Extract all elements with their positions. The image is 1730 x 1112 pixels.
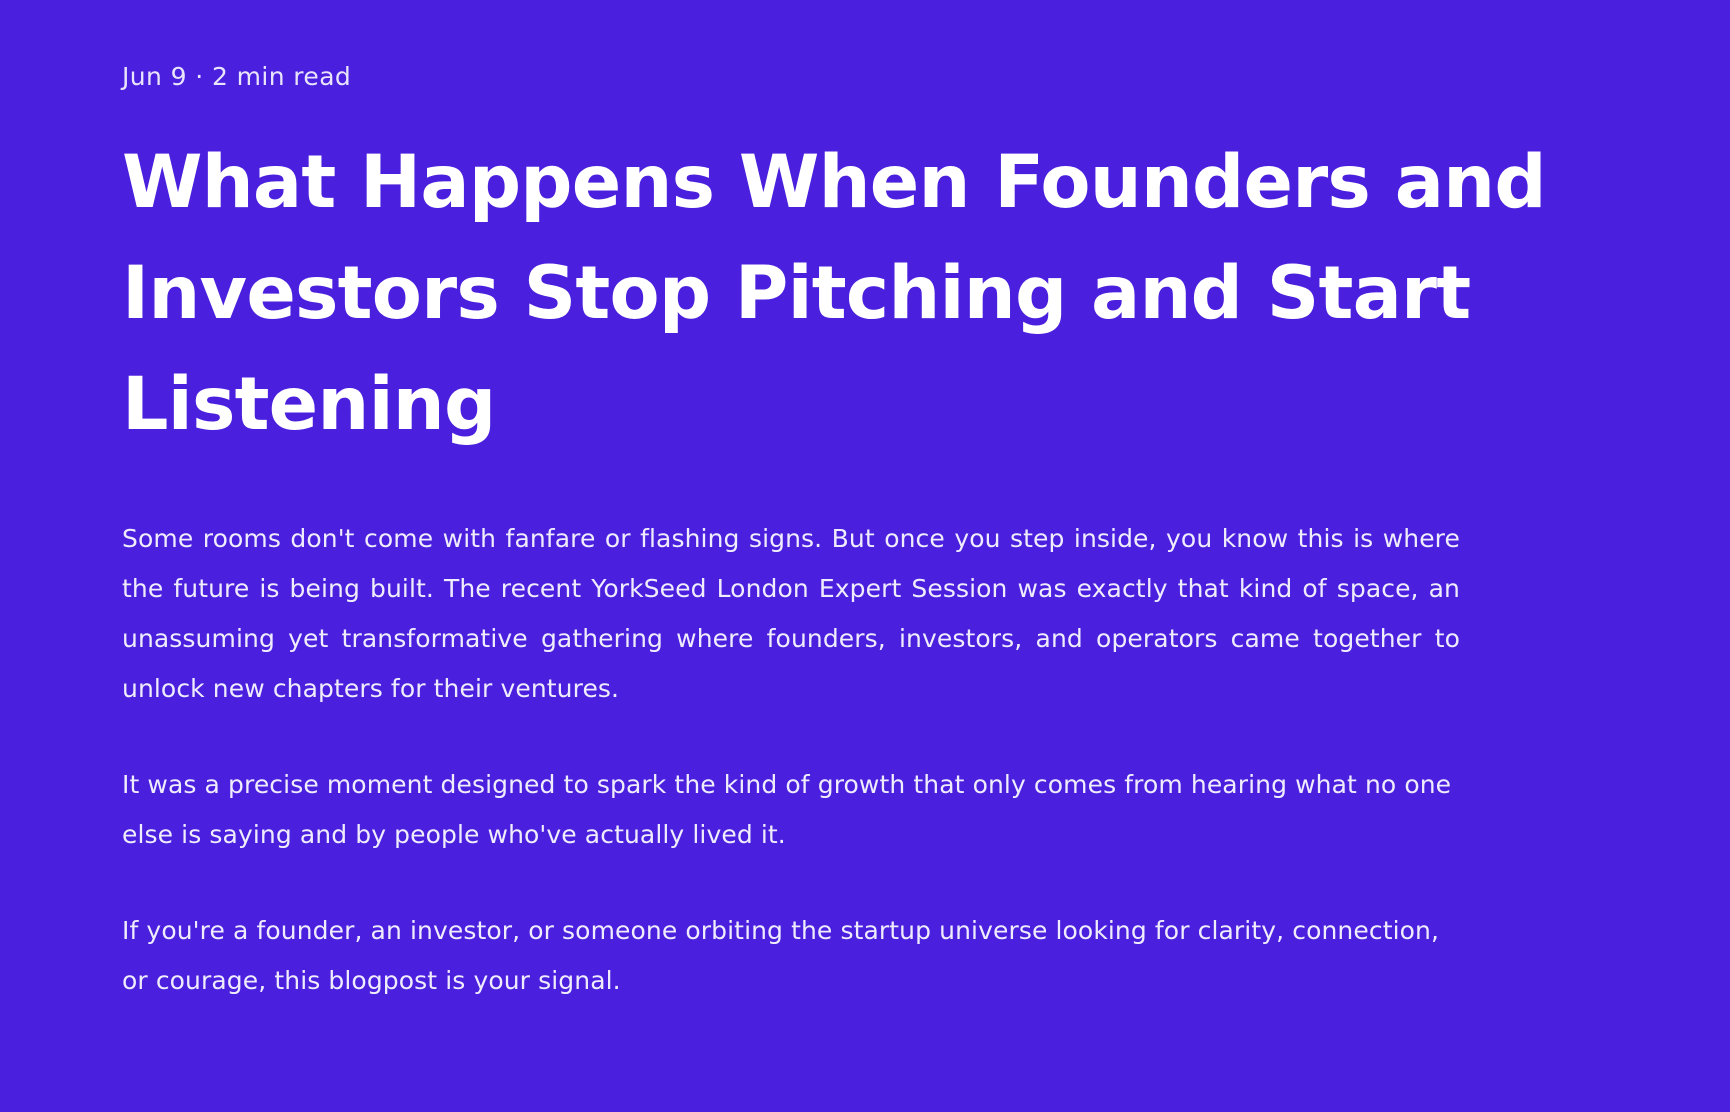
- article-paragraph-3: If you're a founder, an investor, or som…: [122, 906, 1460, 1006]
- article-paragraph-1: Some rooms don't come with fanfare or fl…: [122, 514, 1460, 714]
- post-meta-line: Jun 9 · 2 min read: [122, 62, 1608, 91]
- article-paragraph-2: It was a precise moment designed to spar…: [122, 760, 1460, 860]
- article-content-container: Jun 9 · 2 min read What Happens When Fou…: [122, 0, 1608, 1006]
- blog-article-page: Jun 9 · 2 min read What Happens When Fou…: [0, 0, 1730, 1112]
- article-body: Some rooms don't come with fanfare or fl…: [122, 514, 1460, 1006]
- page-title: What Happens When Founders and Investors…: [122, 127, 1552, 460]
